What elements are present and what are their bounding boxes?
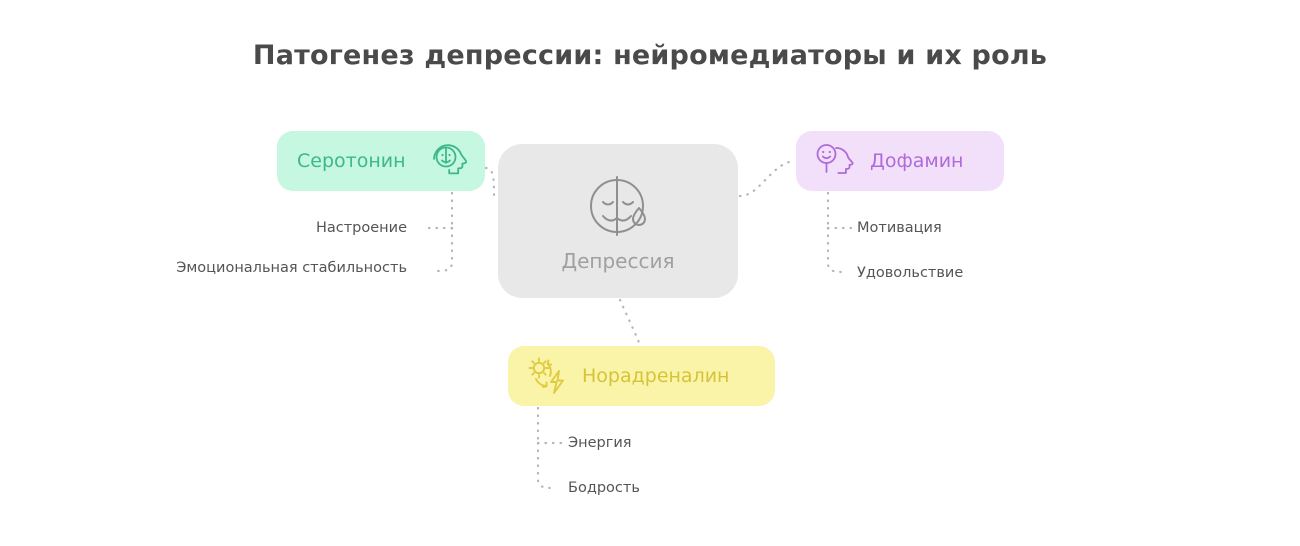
node-dopamine[interactable]: Дофамин: [796, 131, 1004, 191]
sublabel-serotonin-mood[interactable]: Настроение: [175, 220, 407, 236]
sublabel-noradrenaline-vigor[interactable]: Бодрость: [568, 480, 640, 496]
edge-noradrenaline-vigor: [538, 443, 553, 488]
split-face-sad-icon: [581, 169, 655, 243]
node-depression[interactable]: Депрессия: [498, 144, 738, 298]
edge-serotonin-center: [486, 168, 494, 196]
sublabel-dopamine-pleasure[interactable]: Удовольствие: [857, 265, 963, 281]
edge-dopamine-pleasure: [828, 228, 843, 272]
sublabel-serotonin-stability[interactable]: Эмоциональная стабильность: [175, 260, 407, 276]
diagram-canvas: Патогенез депрессии: нейромедиаторы и их…: [0, 0, 1300, 546]
node-serotonin[interactable]: Серотонин: [277, 131, 485, 191]
node-dopamine-label: Дофамин: [870, 150, 963, 172]
edge-center-noradrenaline: [620, 300, 640, 345]
smiley-head-profile-icon: [814, 142, 856, 180]
head-with-face-icon: [429, 141, 467, 181]
node-noradrenaline-label: Норадреналин: [582, 365, 729, 387]
edge-center-dopamine: [740, 161, 795, 196]
page-title: Патогенез депрессии: нейромедиаторы и их…: [0, 40, 1300, 71]
edge-serotonin-stability: [438, 228, 452, 271]
node-serotonin-label: Серотонин: [297, 150, 406, 172]
sublabel-noradrenaline-energy[interactable]: Энергия: [568, 435, 632, 451]
sublabel-dopamine-motivation[interactable]: Мотивация: [857, 220, 942, 236]
node-depression-label: Депрессия: [561, 249, 674, 273]
sun-bolt-energy-icon: [526, 355, 570, 397]
node-noradrenaline[interactable]: Норадреналин: [508, 346, 775, 406]
